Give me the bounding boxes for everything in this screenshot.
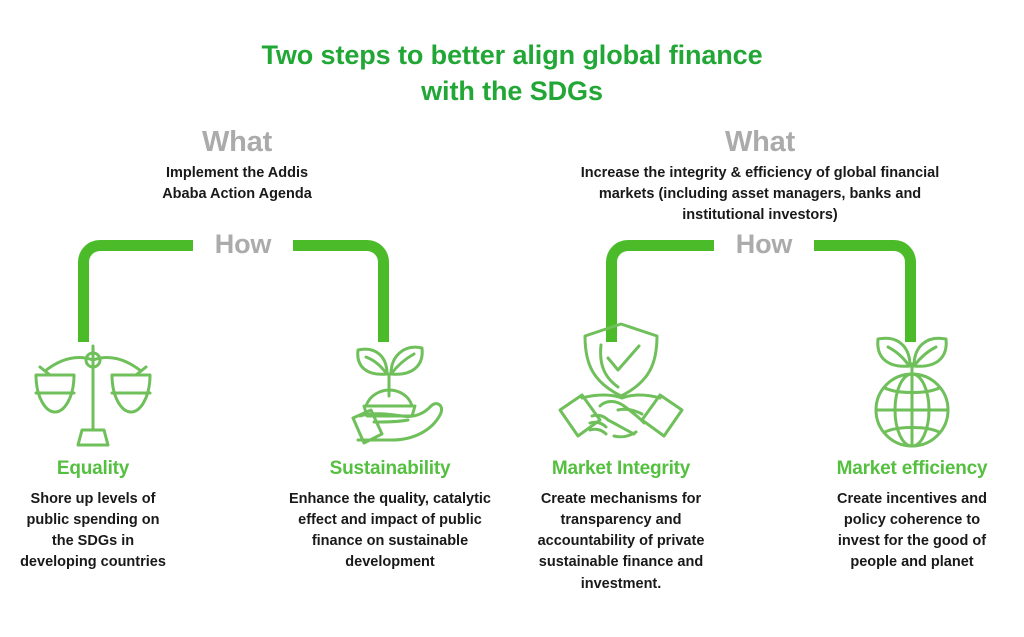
column-equality-title: Equality xyxy=(0,458,186,480)
column-market-efficiency-body: Create incentives and policy coherence t… xyxy=(800,489,1024,574)
shield-check-handshake-icon xyxy=(556,320,686,448)
column-market-integrity-title: Market Integrity xyxy=(508,458,734,480)
step-2-how-label: How xyxy=(714,229,814,260)
column-market-integrity: Market Integrity Create mechanisms for t… xyxy=(508,320,734,595)
balance-scales-icon xyxy=(33,338,153,448)
step-2-what-label: What xyxy=(660,126,860,159)
page-title: Two steps to better align global finance… xyxy=(0,38,1024,109)
infographic-canvas: Two steps to better align global finance… xyxy=(0,0,1024,637)
column-equality-icon-wrap xyxy=(0,330,186,448)
step-1-what-label: What xyxy=(137,126,337,159)
page-title-line-1: Two steps to better align global finance xyxy=(0,38,1024,74)
step-1-how-label: How xyxy=(193,229,293,260)
column-equality-body: Shore up levels of public spending on th… xyxy=(0,489,186,574)
page-title-line-2: with the SDGs xyxy=(0,74,1024,110)
globe-sprout-icon xyxy=(852,320,972,448)
column-equality: Equality Shore up levels of public spend… xyxy=(0,330,186,574)
hand-holding-plant-icon xyxy=(330,330,450,448)
column-market-efficiency: Market efficiency Create incentives and … xyxy=(800,320,1024,574)
column-sustainability-icon-wrap xyxy=(275,330,505,448)
column-sustainability-body: Enhance the quality, catalytic effect an… xyxy=(275,489,505,574)
column-market-efficiency-icon-wrap xyxy=(800,320,1024,448)
column-sustainability-title: Sustainability xyxy=(275,458,505,480)
step-1-what-text: Implement the Addis Ababa Action Agenda xyxy=(152,163,322,205)
column-sustainability: Sustainability Enhance the quality, cata… xyxy=(275,330,505,574)
column-market-integrity-body: Create mechanisms for transparency and a… xyxy=(508,489,734,595)
column-market-integrity-icon-wrap xyxy=(508,320,734,448)
step-2-what-text: Increase the integrity & efficiency of g… xyxy=(570,163,950,226)
column-market-efficiency-title: Market efficiency xyxy=(800,458,1024,480)
